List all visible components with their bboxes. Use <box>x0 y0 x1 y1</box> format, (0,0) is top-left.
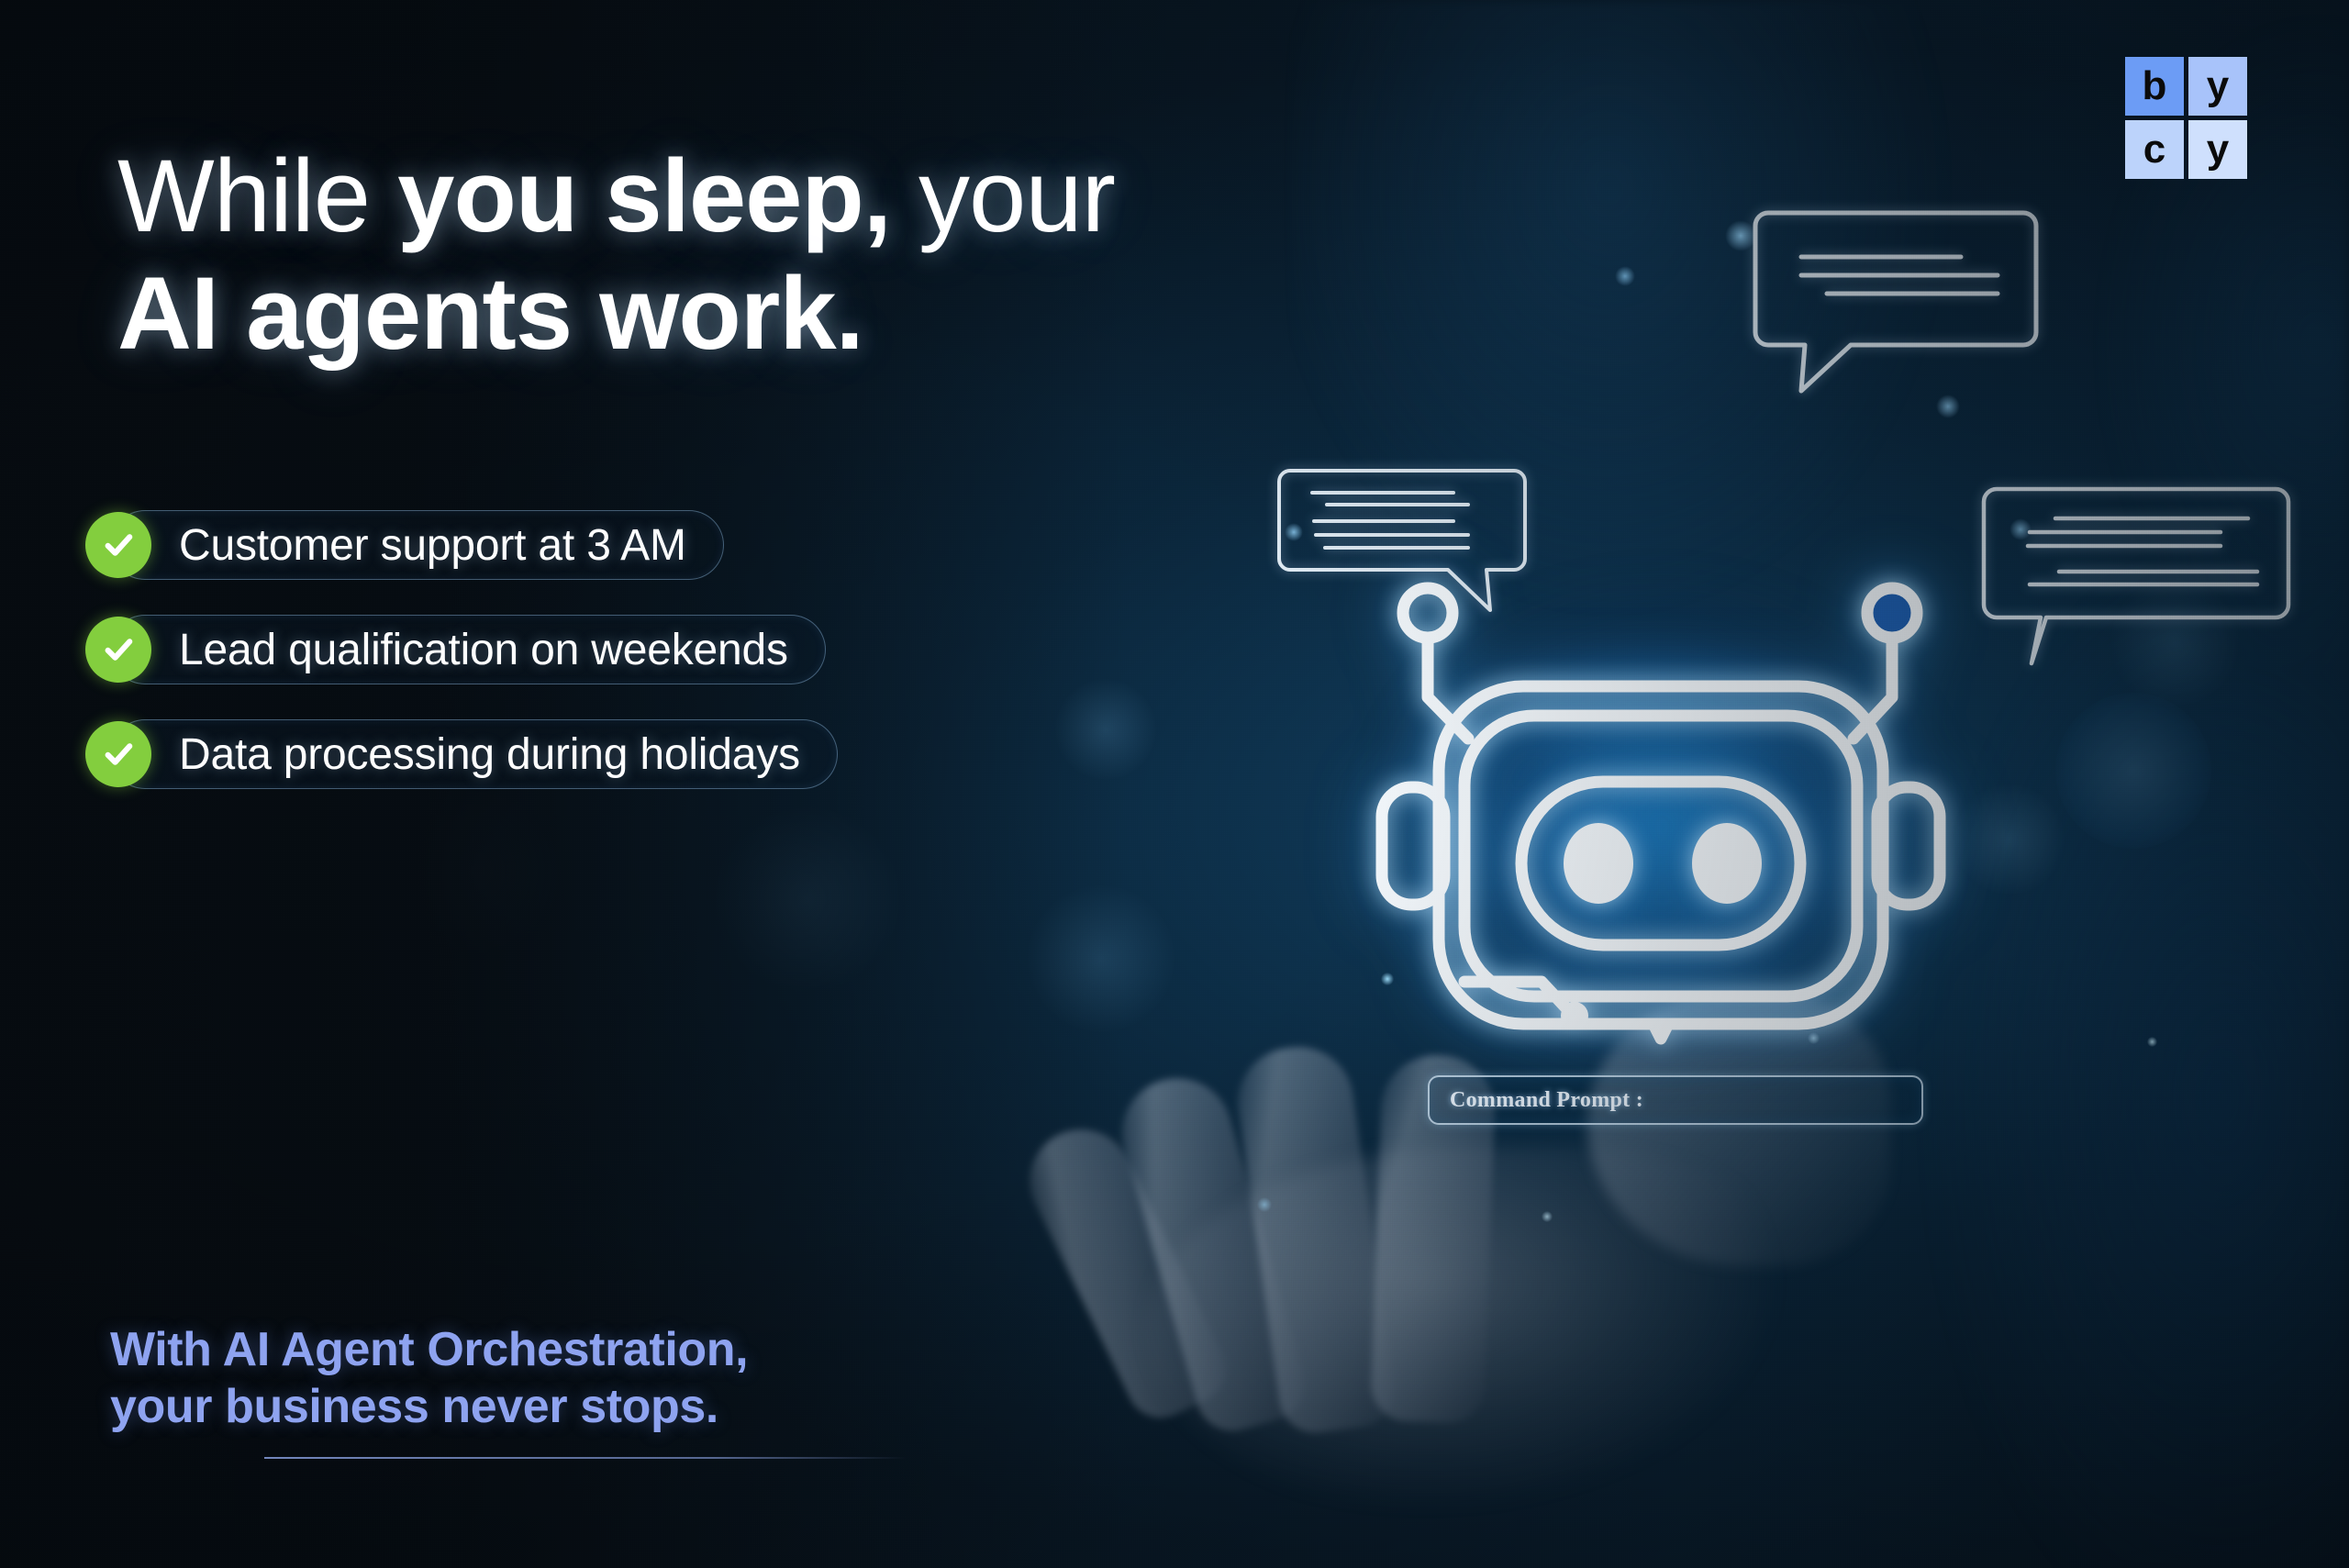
bycy-logo[interactable]: b y c y <box>2125 57 2247 179</box>
check-icon <box>85 512 151 578</box>
tagline: With AI Agent Orchestration, your busine… <box>110 1321 748 1436</box>
list-item-label: Lead qualification on weekends <box>179 625 788 675</box>
check-icon <box>85 721 151 787</box>
logo-tile-b: b <box>2125 57 2184 116</box>
list-item[interactable]: Customer support at 3 AM <box>110 510 724 580</box>
headline-line-2: AI agents work. <box>117 255 1604 373</box>
check-icon <box>85 617 151 683</box>
tagline-line-1: With AI Agent Orchestration, <box>110 1321 748 1378</box>
page-title: While you sleep, your AI agents work. <box>117 138 1604 372</box>
list-item-label: Data processing during holidays <box>179 729 800 780</box>
logo-tile-y1: y <box>2188 57 2247 116</box>
headline-line-1: While you sleep, your <box>117 138 1604 255</box>
list-item[interactable]: Lead qualification on weekends <box>110 615 826 684</box>
headline-part-1: While <box>117 139 397 253</box>
list-item-label: Customer support at 3 AM <box>179 520 686 571</box>
headline-part-2: you sleep, <box>397 139 891 253</box>
promotional-banner: Command Prompt : While you sleep, your A… <box>0 0 2349 1568</box>
feature-list: Customer support at 3 AM Lead qualificat… <box>110 510 838 824</box>
headline-part-3: your <box>891 139 1115 253</box>
list-item[interactable]: Data processing during holidays <box>110 719 838 789</box>
tagline-line-2: your business never stops. <box>110 1378 748 1435</box>
logo-tile-y2: y <box>2188 120 2247 179</box>
tagline-underline <box>264 1457 907 1459</box>
logo-tile-c: c <box>2125 120 2184 179</box>
